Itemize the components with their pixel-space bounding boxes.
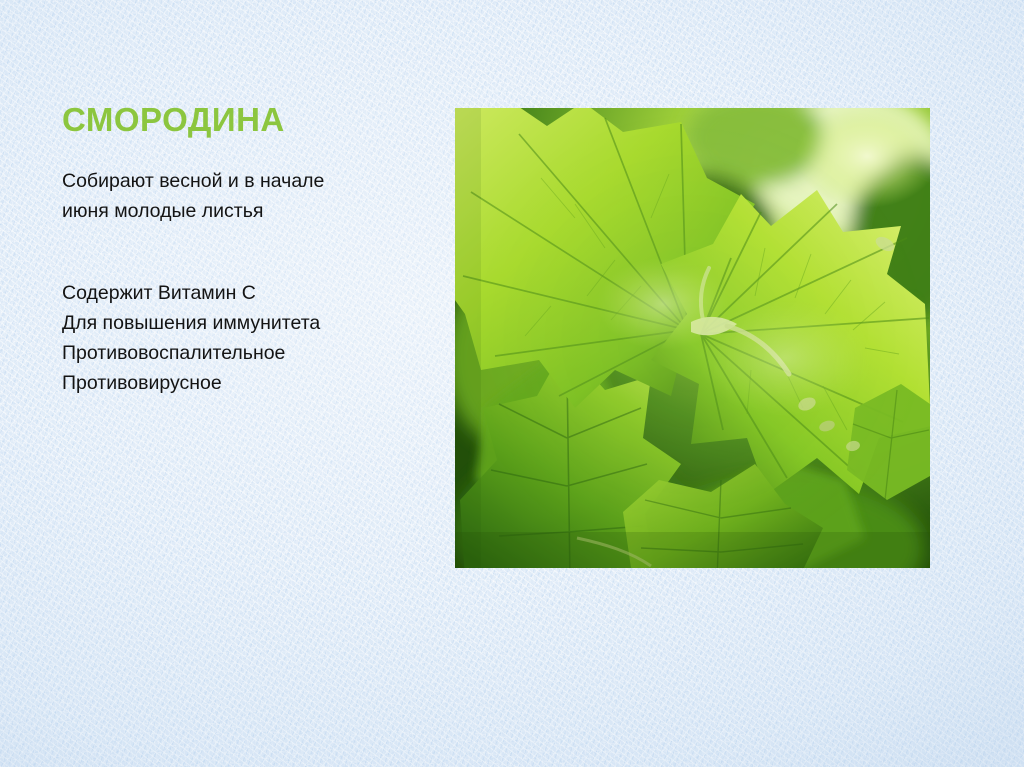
body-line: июня молодые листья — [62, 196, 422, 226]
text-column: СМОРОДИНА Собирают весной и в начале июн… — [62, 100, 422, 398]
body-line: Противовирусное — [62, 368, 422, 398]
body-line: Содержит Витамин С — [62, 278, 422, 308]
currant-leaves-photo — [455, 108, 930, 568]
currant-leaves-illustration — [455, 108, 930, 568]
page-title: СМОРОДИНА — [62, 100, 422, 140]
body-line: Собирают весной и в начале — [62, 166, 422, 196]
text-block-harvest-info: Собирают весной и в начале июня молодые … — [62, 166, 422, 226]
body-line: Для повышения иммунитета — [62, 308, 422, 338]
slide-canvas: СМОРОДИНА Собирают весной и в начале июн… — [0, 0, 1024, 767]
text-block-properties-info: Содержит Витамин С Для повышения иммунит… — [62, 278, 422, 398]
body-line: Противовоспалительное — [62, 338, 422, 368]
